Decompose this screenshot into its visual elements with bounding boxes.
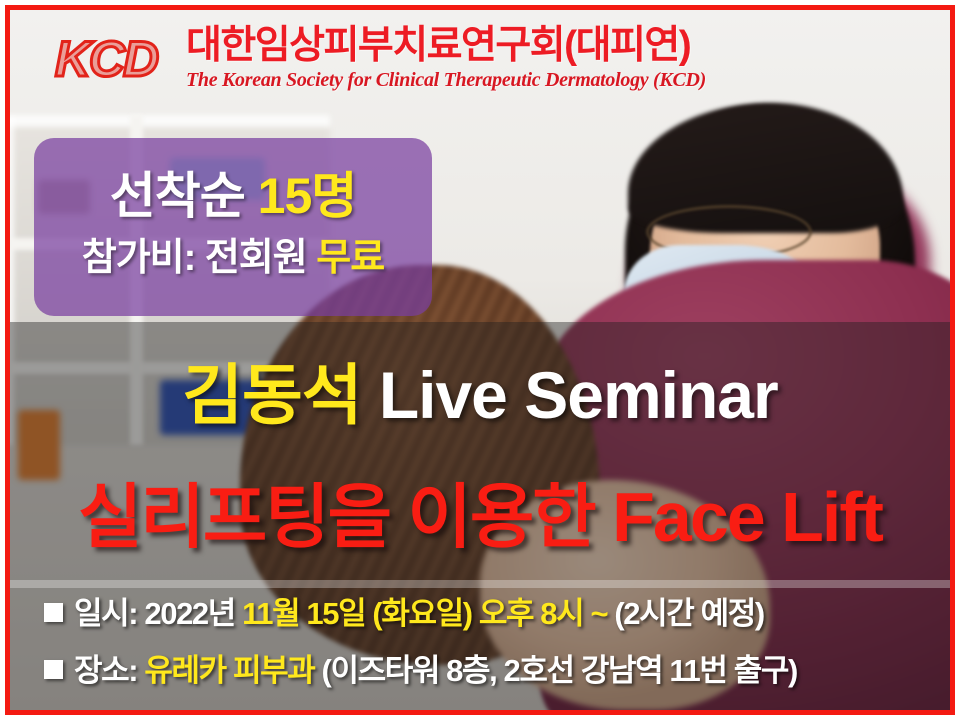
notice-capacity-prefix: 선착순 [110,168,258,224]
organization-name-en: The Korean Society for Clinical Therapeu… [186,69,706,91]
organization-name-ko: 대한임상피부치료연구회(대피연) [186,26,706,67]
registration-notice-box: 선착순 15명 참가비: 전회원 무료 [34,138,432,316]
event-date-line: 일시: 2022년 11월 15일 (화요일) 오후 8시 ~ (2시간 예정) [44,598,926,629]
event-date-prefix: 2022년 [144,596,242,631]
notice-fee-prefix: 참가비: 전회원 [82,237,317,279]
seminar-label: Live Seminar [361,358,777,432]
event-date-label: 일시: [74,596,144,631]
poster-red-frame: KCD 대한임상피부치료연구회(대피연) The Korean Society … [5,5,955,715]
notice-fee-line: 참가비: 전회원 무료 [82,234,384,283]
event-venue-line: 장소: 유레카 피부과 (이즈타워 8층, 2호선 강남역 11번 출구) [44,655,926,686]
notice-capacity-line: 선착순 15명 [110,165,357,228]
kcd-logo-icon: KCD [30,28,182,90]
square-bullet-icon [44,603,63,622]
seminar-poster: KCD 대한임상피부치료연구회(대피연) The Korean Society … [0,0,960,720]
organization-block: 대한임상피부치료연구회(대피연) The Korean Society for … [186,26,706,91]
band-divider-line [10,580,950,588]
kcd-logo-text: KCD [55,34,157,84]
event-date-value: 11월 15일 (화요일) 오후 8시 ~ [242,596,614,631]
poster-stage: KCD 대한임상피부치료연구회(대피연) The Korean Society … [10,10,950,710]
seminar-title: 김동석 Live Seminar [10,362,950,428]
event-venue-value: 유레카 피부과 [144,653,321,688]
event-date-suffix: (2시간 예정) [614,596,763,631]
seminar-topic: 실리프팅을 이용한 Face Lift [10,482,950,552]
notice-fee-value: 무료 [316,237,384,279]
square-bullet-icon [44,660,63,679]
notice-capacity-value: 15명 [258,168,357,224]
event-venue-suffix: (이즈타워 8층, 2호선 강남역 11번 출구) [322,653,797,688]
event-venue-label: 장소: [74,653,144,688]
event-details: 일시: 2022년 11월 15일 (화요일) 오후 8시 ~ (2시간 예정)… [44,598,926,710]
poster-header: KCD 대한임상피부치료연구회(대피연) The Korean Society … [10,10,950,110]
speaker-name: 김동석 [182,358,361,432]
